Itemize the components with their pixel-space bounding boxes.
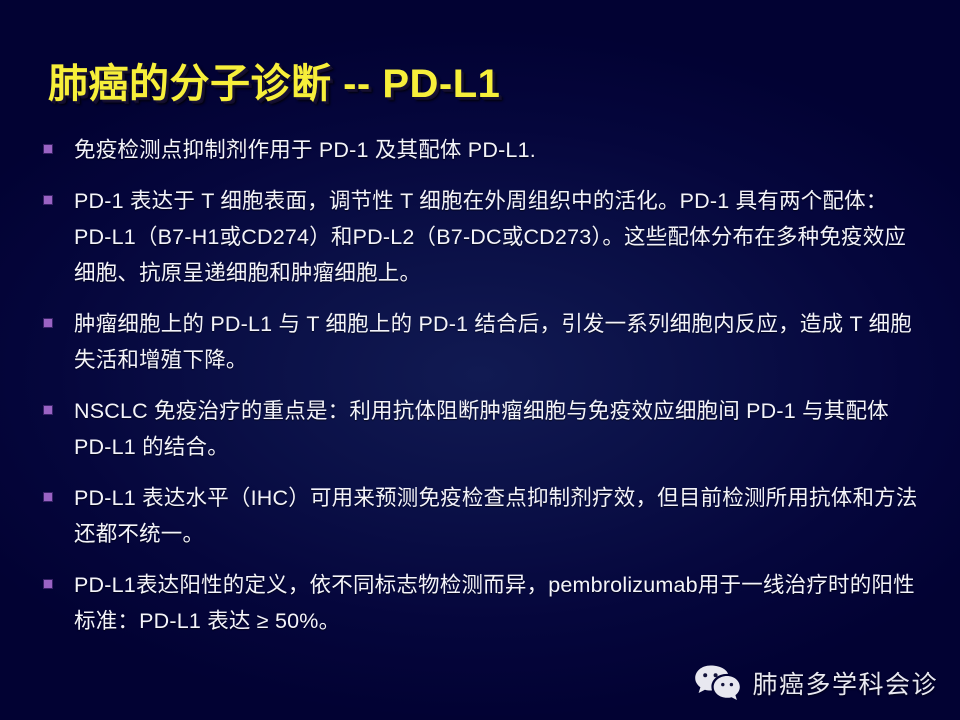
list-item-text: PD-1 表达于 T 细胞表面，调节性 T 细胞在外周组织中的活化。PD-1 具…	[74, 183, 924, 291]
list-item: 免疫检测点抑制剂作用于 PD-1 及其配体 PD-L1.	[44, 132, 924, 168]
watermark: 肺癌多学科会诊	[694, 664, 938, 702]
wechat-icon	[694, 664, 740, 702]
list-item-text: 肿瘤细胞上的 PD-L1 与 T 细胞上的 PD-1 结合后，引发一系列细胞内反…	[74, 306, 924, 378]
square-bullet-icon	[44, 493, 52, 501]
title-block: 肺癌的分子诊断 -- PD-L1	[48, 58, 908, 120]
list-item: PD-L1表达阳性的定义，依不同标志物检测而异，pembrolizumab用于一…	[44, 567, 924, 639]
list-item: PD-1 表达于 T 细胞表面，调节性 T 细胞在外周组织中的活化。PD-1 具…	[44, 183, 924, 291]
slide-canvas: 肺癌的分子诊断 -- PD-L1 免疫检测点抑制剂作用于 PD-1 及其配体 P…	[0, 0, 960, 720]
square-bullet-icon	[44, 580, 52, 588]
square-bullet-icon	[44, 196, 52, 204]
square-bullet-icon	[44, 319, 52, 327]
watermark-label: 肺癌多学科会诊	[752, 665, 938, 701]
list-item: 肿瘤细胞上的 PD-L1 与 T 细胞上的 PD-1 结合后，引发一系列细胞内反…	[44, 306, 924, 378]
list-item: PD-L1 表达水平（IHC）可用来预测免疫检查点抑制剂疗效，但目前检测所用抗体…	[44, 480, 924, 552]
list-item-text: PD-L1 表达水平（IHC）可用来预测免疫检查点抑制剂疗效，但目前检测所用抗体…	[74, 480, 924, 552]
list-item-text: 免疫检测点抑制剂作用于 PD-1 及其配体 PD-L1.	[74, 132, 924, 168]
list-item-text: PD-L1表达阳性的定义，依不同标志物检测而异，pembrolizumab用于一…	[74, 567, 924, 639]
list-item: NSCLC 免疫治疗的重点是：利用抗体阻断肿瘤细胞与免疫效应细胞间 PD-1 与…	[44, 393, 924, 465]
list-item-text: NSCLC 免疫治疗的重点是：利用抗体阻断肿瘤细胞与免疫效应细胞间 PD-1 与…	[74, 393, 924, 465]
square-bullet-icon	[44, 406, 52, 414]
page-title: 肺癌的分子诊断 -- PD-L1	[48, 58, 908, 110]
square-bullet-icon	[44, 145, 52, 153]
bullet-list: 免疫检测点抑制剂作用于 PD-1 及其配体 PD-L1. PD-1 表达于 T …	[44, 132, 924, 654]
